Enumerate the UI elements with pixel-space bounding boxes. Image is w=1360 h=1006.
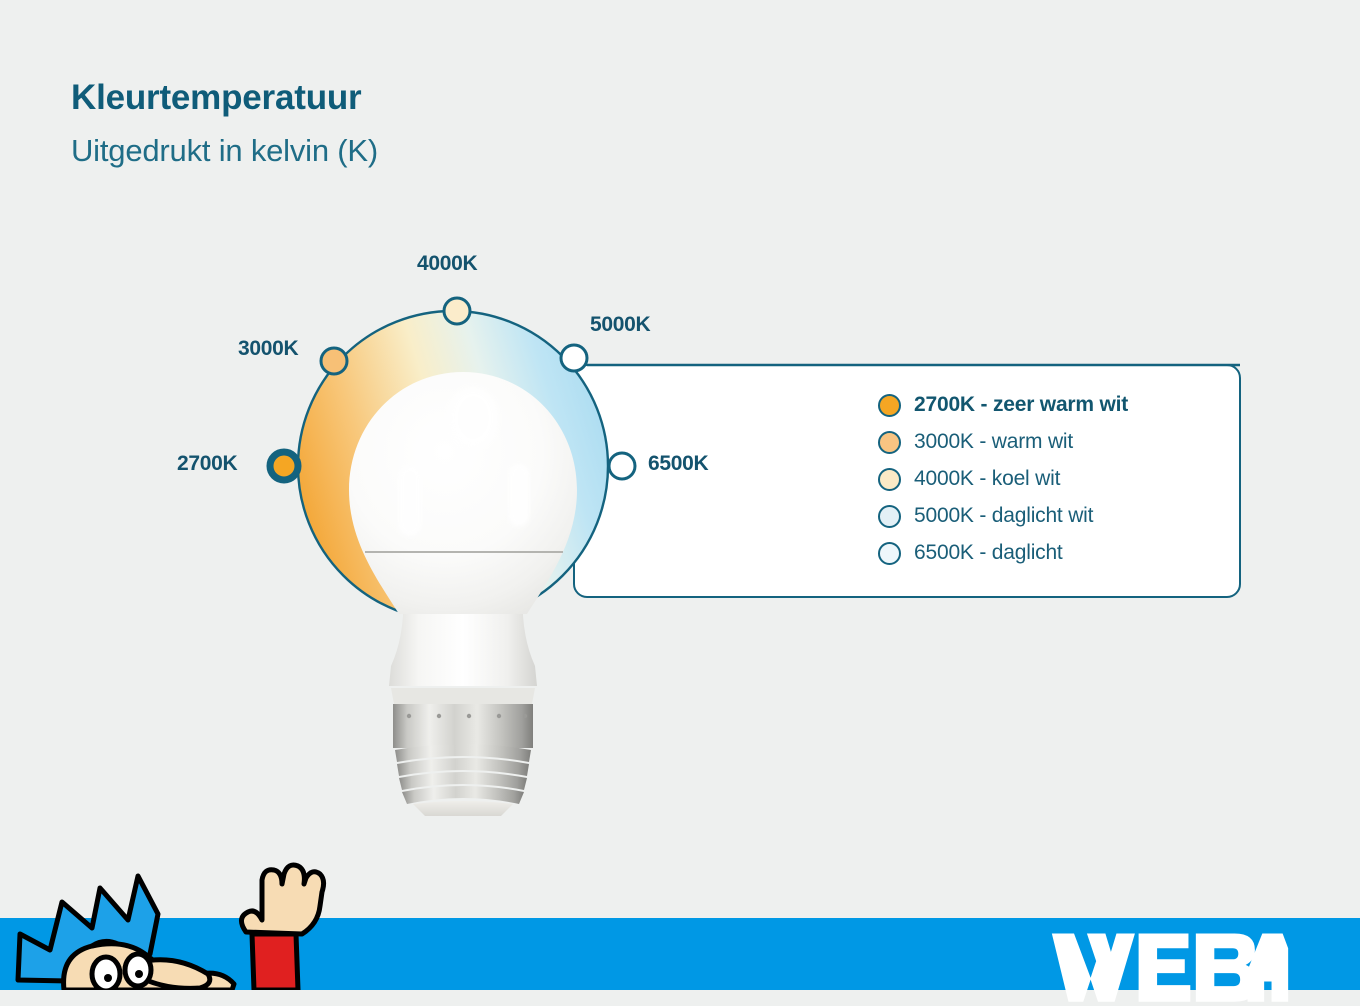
legend-label-6500: 6500K - daglicht bbox=[914, 541, 1063, 565]
bulb-insulator-tip bbox=[413, 801, 513, 816]
page-subtitle: Uitgedrukt in kelvin (K) bbox=[71, 133, 378, 169]
legend-item-6500[interactable]: 6500K - daglicht bbox=[878, 540, 1218, 566]
tick-label-5000: 5000K bbox=[590, 313, 650, 337]
led-bulb-illustration bbox=[333, 366, 593, 816]
legend-swatch-3000 bbox=[878, 431, 901, 454]
bulb-screw-threads bbox=[395, 744, 531, 804]
mascot-sleeve bbox=[252, 934, 298, 990]
bulb-collar bbox=[391, 688, 535, 704]
weba-mascot bbox=[0, 862, 350, 990]
mascot-pupil-left bbox=[104, 974, 112, 982]
tick-label-3000: 3000K bbox=[238, 337, 298, 361]
mascot-eye-left bbox=[92, 957, 120, 990]
page-title: Kleurtemperatuur bbox=[71, 78, 361, 118]
legend-swatch-5000 bbox=[878, 505, 901, 528]
bulb-highlight-left bbox=[399, 466, 421, 536]
tick-label-6500: 6500K bbox=[648, 452, 708, 476]
legend-item-3000[interactable]: 3000K - warm wit bbox=[878, 429, 1218, 455]
legend-swatch-6500 bbox=[878, 542, 901, 565]
tick-label-2700: 2700K bbox=[177, 452, 237, 476]
legend-item-5000[interactable]: 5000K - daglicht wit bbox=[878, 503, 1218, 529]
infographic-canvas: Kleurtemperatuur Uitgedrukt in kelvin (K… bbox=[0, 0, 1360, 990]
mascot-hand bbox=[241, 865, 323, 934]
weba-logo bbox=[1050, 920, 1290, 1006]
legend-label-5000: 5000K - daglicht wit bbox=[914, 504, 1093, 528]
legend-swatch-4000 bbox=[878, 468, 901, 491]
temperature-legend: 2700K - zeer warm wit 3000K - warm wit 4… bbox=[878, 392, 1218, 566]
legend-label-4000: 4000K - koel wit bbox=[914, 467, 1060, 491]
tick-label-4000: 4000K bbox=[417, 252, 477, 276]
legend-label-3000: 3000K - warm wit bbox=[914, 430, 1073, 454]
legend-item-2700[interactable]: 2700K - zeer warm wit bbox=[878, 392, 1218, 418]
bulb-highlight-right bbox=[509, 464, 529, 526]
mascot-pupil-right bbox=[135, 970, 143, 978]
mascot-eye-right bbox=[125, 954, 151, 986]
legend-item-4000[interactable]: 4000K - koel wit bbox=[878, 466, 1218, 492]
bulb-base-upper bbox=[393, 704, 533, 748]
bulb-highlight-top bbox=[449, 388, 497, 448]
legend-swatch-2700 bbox=[878, 394, 901, 417]
legend-label-2700: 2700K - zeer warm wit bbox=[914, 393, 1128, 417]
